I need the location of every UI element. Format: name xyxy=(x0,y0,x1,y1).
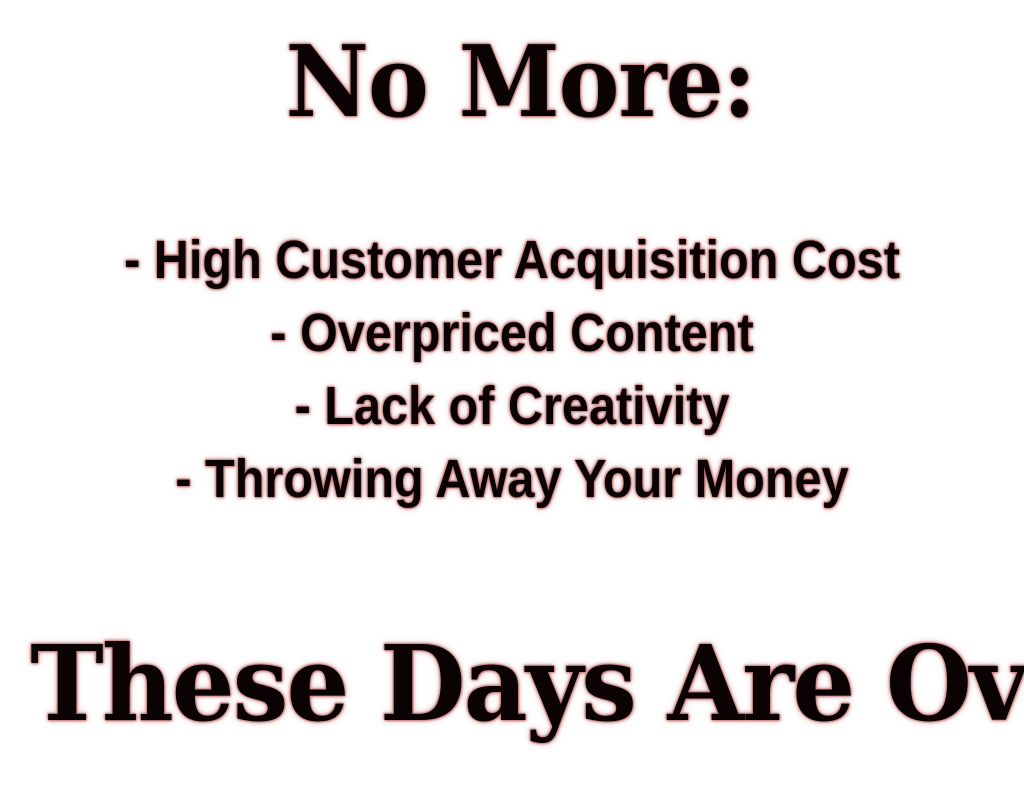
list-item: - Throwing Away Your Money xyxy=(51,443,973,516)
bullet-list: - High Customer Acquisition Cost - Overp… xyxy=(0,224,1024,516)
list-item: - High Customer Acquisition Cost xyxy=(51,224,973,297)
list-item: - Overpriced Content xyxy=(51,297,973,370)
page-title: No More: xyxy=(286,34,756,132)
closing-headline: These Days Are Over! xyxy=(30,632,1024,736)
closing-block: These Days Are Over! xyxy=(0,632,1024,736)
slide-canvas: No More: - High Customer Acquisition Cos… xyxy=(0,0,1024,791)
title-block: No More: xyxy=(0,34,1024,132)
list-item: - Lack of Creativity xyxy=(51,370,973,443)
